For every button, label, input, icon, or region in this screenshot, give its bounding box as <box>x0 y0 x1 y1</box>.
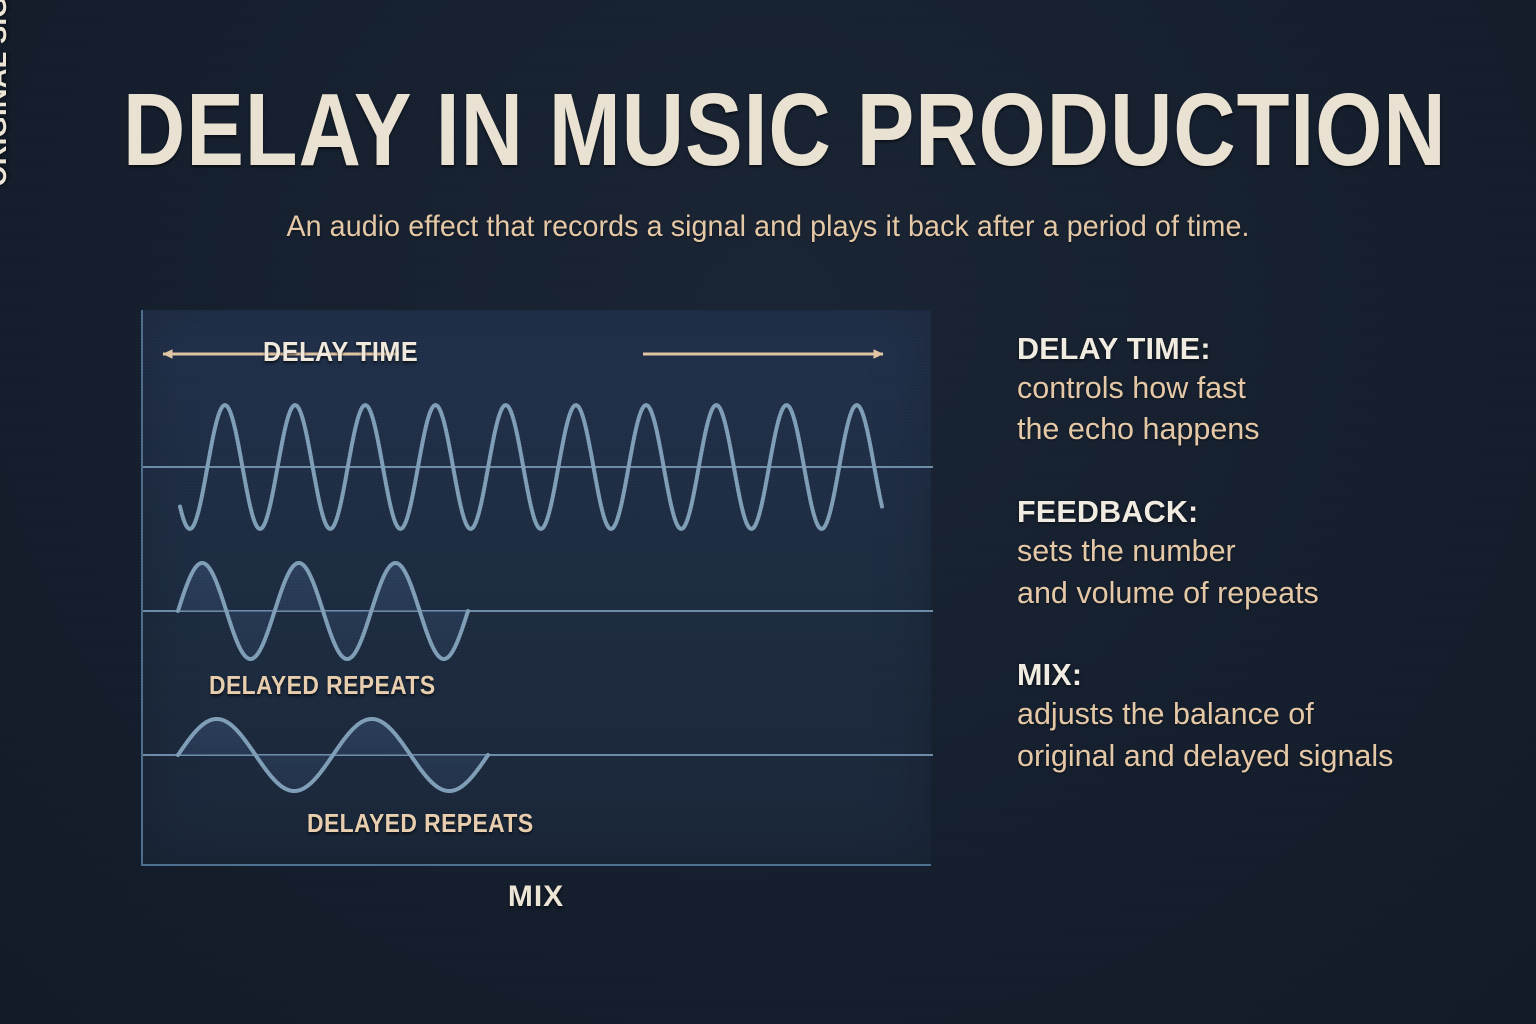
param-term: FEEDBACK: <box>1017 495 1507 531</box>
waveform-svg <box>143 310 933 866</box>
delayed-repeats-label-1: DELAYED REPEATS <box>209 670 436 701</box>
param-term: DELAY TIME: <box>1017 332 1507 368</box>
signal-diagram-panel <box>141 310 931 866</box>
delayed-repeats-label-2: DELAYED REPEATS <box>307 808 534 839</box>
infographic-root: DELAY IN MUSIC PRODUCTION An audio effec… <box>0 0 1536 1024</box>
page-subtitle: An audio effect that records a signal an… <box>23 210 1513 244</box>
param-description: adjusts the balance of original and dela… <box>1017 694 1507 778</box>
param-term: MIX: <box>1017 658 1507 694</box>
param-block-delay-time: DELAY TIME: controls how fast the echo h… <box>1017 332 1507 451</box>
param-description: controls how fast the echo happens <box>1017 368 1507 452</box>
y-axis-label: ORIGINAL SIGNAL <box>0 0 13 228</box>
x-axis-label: MIX <box>141 880 931 914</box>
param-description: sets the number and volume of repeats <box>1017 531 1507 615</box>
param-block-mix: MIX: adjusts the balance of original and… <box>1017 658 1507 777</box>
parameter-list: DELAY TIME: controls how fast the echo h… <box>1017 332 1507 778</box>
param-block-feedback: FEEDBACK: sets the number and volume of … <box>1017 495 1507 614</box>
delay-time-label: DELAY TIME <box>263 336 418 368</box>
page-title: DELAY IN MUSIC PRODUCTION <box>123 78 1413 181</box>
